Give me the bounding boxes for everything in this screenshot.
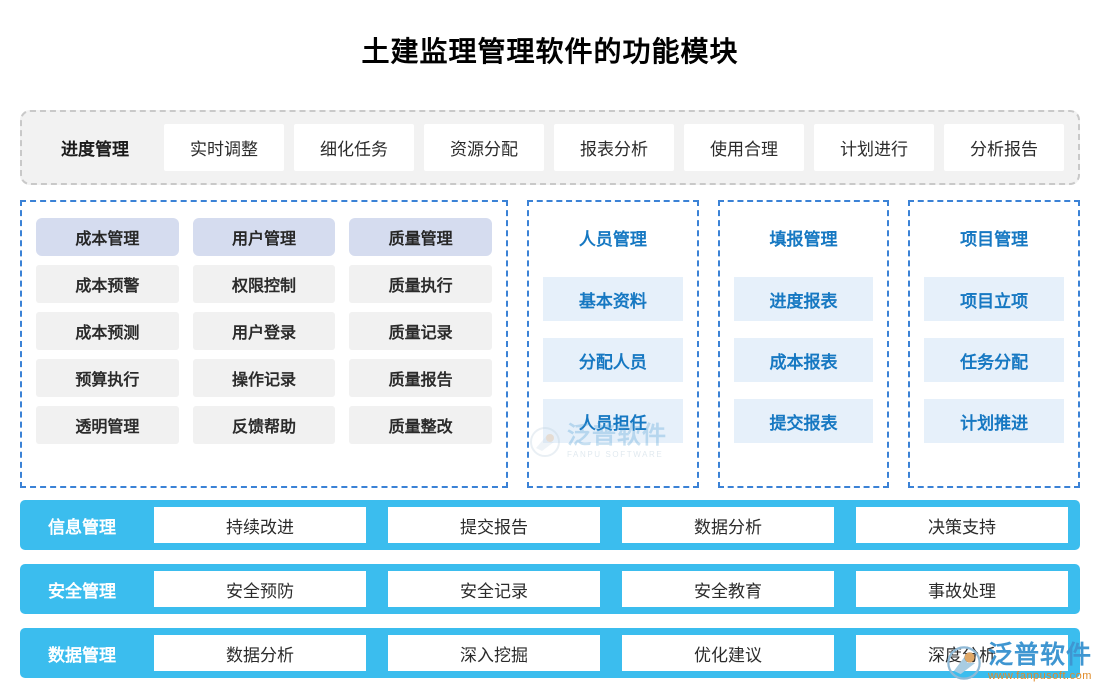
column-header-cost[interactable]: 成本管理: [36, 218, 179, 256]
data-chip-4[interactable]: 深度分析: [856, 635, 1068, 671]
cost-item-2[interactable]: 成本预测: [36, 312, 179, 350]
user-item-2[interactable]: 用户登录: [193, 312, 336, 350]
user-item-1[interactable]: 权限控制: [193, 265, 336, 303]
column-header-quality[interactable]: 质量管理: [349, 218, 492, 256]
column-reporting-management: 填报管理 进度报表 成本报表 提交报表: [734, 218, 874, 470]
project-item-1[interactable]: 项目立项: [924, 277, 1064, 321]
safety-chip-1[interactable]: 安全预防: [154, 571, 366, 607]
quality-item-1[interactable]: 质量执行: [349, 265, 492, 303]
column-header-project[interactable]: 项目管理: [924, 218, 1064, 256]
reporting-item-2[interactable]: 成本报表: [734, 338, 874, 382]
bar-safety-management: 安全管理 安全预防 安全记录 安全教育 事故处理: [20, 564, 1080, 614]
user-item-4[interactable]: 反馈帮助: [193, 406, 336, 444]
gray-module-group: 成本管理 成本预警 成本预测 预算执行 透明管理 用户管理 权限控制 用户登录 …: [20, 200, 508, 488]
data-chip-3[interactable]: 优化建议: [622, 635, 834, 671]
safety-chip-2[interactable]: 安全记录: [388, 571, 600, 607]
top-chip-7[interactable]: 分析报告: [944, 124, 1064, 171]
project-item-3[interactable]: 计划推进: [924, 399, 1064, 443]
cost-item-3[interactable]: 预算执行: [36, 359, 179, 397]
quality-item-4[interactable]: 质量整改: [349, 406, 492, 444]
personnel-item-2[interactable]: 分配人员: [543, 338, 683, 382]
project-management-box: 项目管理 项目立项 任务分配 计划推进: [908, 200, 1080, 488]
user-item-3[interactable]: 操作记录: [193, 359, 336, 397]
column-project-management: 项目管理 项目立项 任务分配 计划推进: [924, 218, 1064, 470]
personnel-item-3[interactable]: 人员担任: [543, 399, 683, 443]
column-header-user[interactable]: 用户管理: [193, 218, 336, 256]
cost-item-1[interactable]: 成本预警: [36, 265, 179, 303]
top-chip-5[interactable]: 使用合理: [684, 124, 804, 171]
personnel-item-1[interactable]: 基本资料: [543, 277, 683, 321]
reporting-management-box: 填报管理 进度报表 成本报表 提交报表: [718, 200, 890, 488]
strip-label-progress: 进度管理: [36, 135, 154, 160]
column-cost-management: 成本管理 成本预警 成本预测 预算执行 透明管理: [36, 218, 179, 470]
bottom-bars-region: 信息管理 持续改进 提交报告 数据分析 决策支持 安全管理 安全预防 安全记录 …: [20, 500, 1080, 678]
project-item-2[interactable]: 任务分配: [924, 338, 1064, 382]
top-chip-4[interactable]: 报表分析: [554, 124, 674, 171]
top-chip-6[interactable]: 计划进行: [814, 124, 934, 171]
bar-label-safety: 安全管理: [32, 577, 132, 602]
bar-label-data: 数据管理: [32, 641, 132, 666]
reporting-item-1[interactable]: 进度报表: [734, 277, 874, 321]
information-chip-1[interactable]: 持续改进: [154, 507, 366, 543]
personnel-management-box: 人员管理 基本资料 分配人员 人员担任: [527, 200, 699, 488]
quality-item-2[interactable]: 质量记录: [349, 312, 492, 350]
safety-chip-4[interactable]: 事故处理: [856, 571, 1068, 607]
top-chip-3[interactable]: 资源分配: [424, 124, 544, 171]
module-columns-region: 成本管理 成本预警 成本预测 预算执行 透明管理 用户管理 权限控制 用户登录 …: [20, 200, 1080, 488]
column-user-management: 用户管理 权限控制 用户登录 操作记录 反馈帮助: [193, 218, 336, 470]
safety-chip-3[interactable]: 安全教育: [622, 571, 834, 607]
cost-item-4[interactable]: 透明管理: [36, 406, 179, 444]
data-chip-1[interactable]: 数据分析: [154, 635, 366, 671]
page-title: 土建监理管理软件的功能模块: [0, 0, 1100, 66]
data-chip-2[interactable]: 深入挖掘: [388, 635, 600, 671]
top-chip-2[interactable]: 细化任务: [294, 124, 414, 171]
bar-data-management: 数据管理 数据分析 深入挖掘 优化建议 深度分析: [20, 628, 1080, 678]
column-personnel-management: 人员管理 基本资料 分配人员 人员担任: [543, 218, 683, 470]
column-header-reporting[interactable]: 填报管理: [734, 218, 874, 256]
column-quality-management: 质量管理 质量执行 质量记录 质量报告 质量整改: [349, 218, 492, 470]
column-header-personnel[interactable]: 人员管理: [543, 218, 683, 256]
information-chip-3[interactable]: 数据分析: [622, 507, 834, 543]
bar-information-management: 信息管理 持续改进 提交报告 数据分析 决策支持: [20, 500, 1080, 550]
information-chip-4[interactable]: 决策支持: [856, 507, 1068, 543]
progress-management-strip: 进度管理 实时调整 细化任务 资源分配 报表分析 使用合理 计划进行 分析报告: [20, 110, 1080, 185]
quality-item-3[interactable]: 质量报告: [349, 359, 492, 397]
top-chip-1[interactable]: 实时调整: [164, 124, 284, 171]
bar-label-information: 信息管理: [32, 513, 132, 538]
information-chip-2[interactable]: 提交报告: [388, 507, 600, 543]
reporting-item-3[interactable]: 提交报表: [734, 399, 874, 443]
